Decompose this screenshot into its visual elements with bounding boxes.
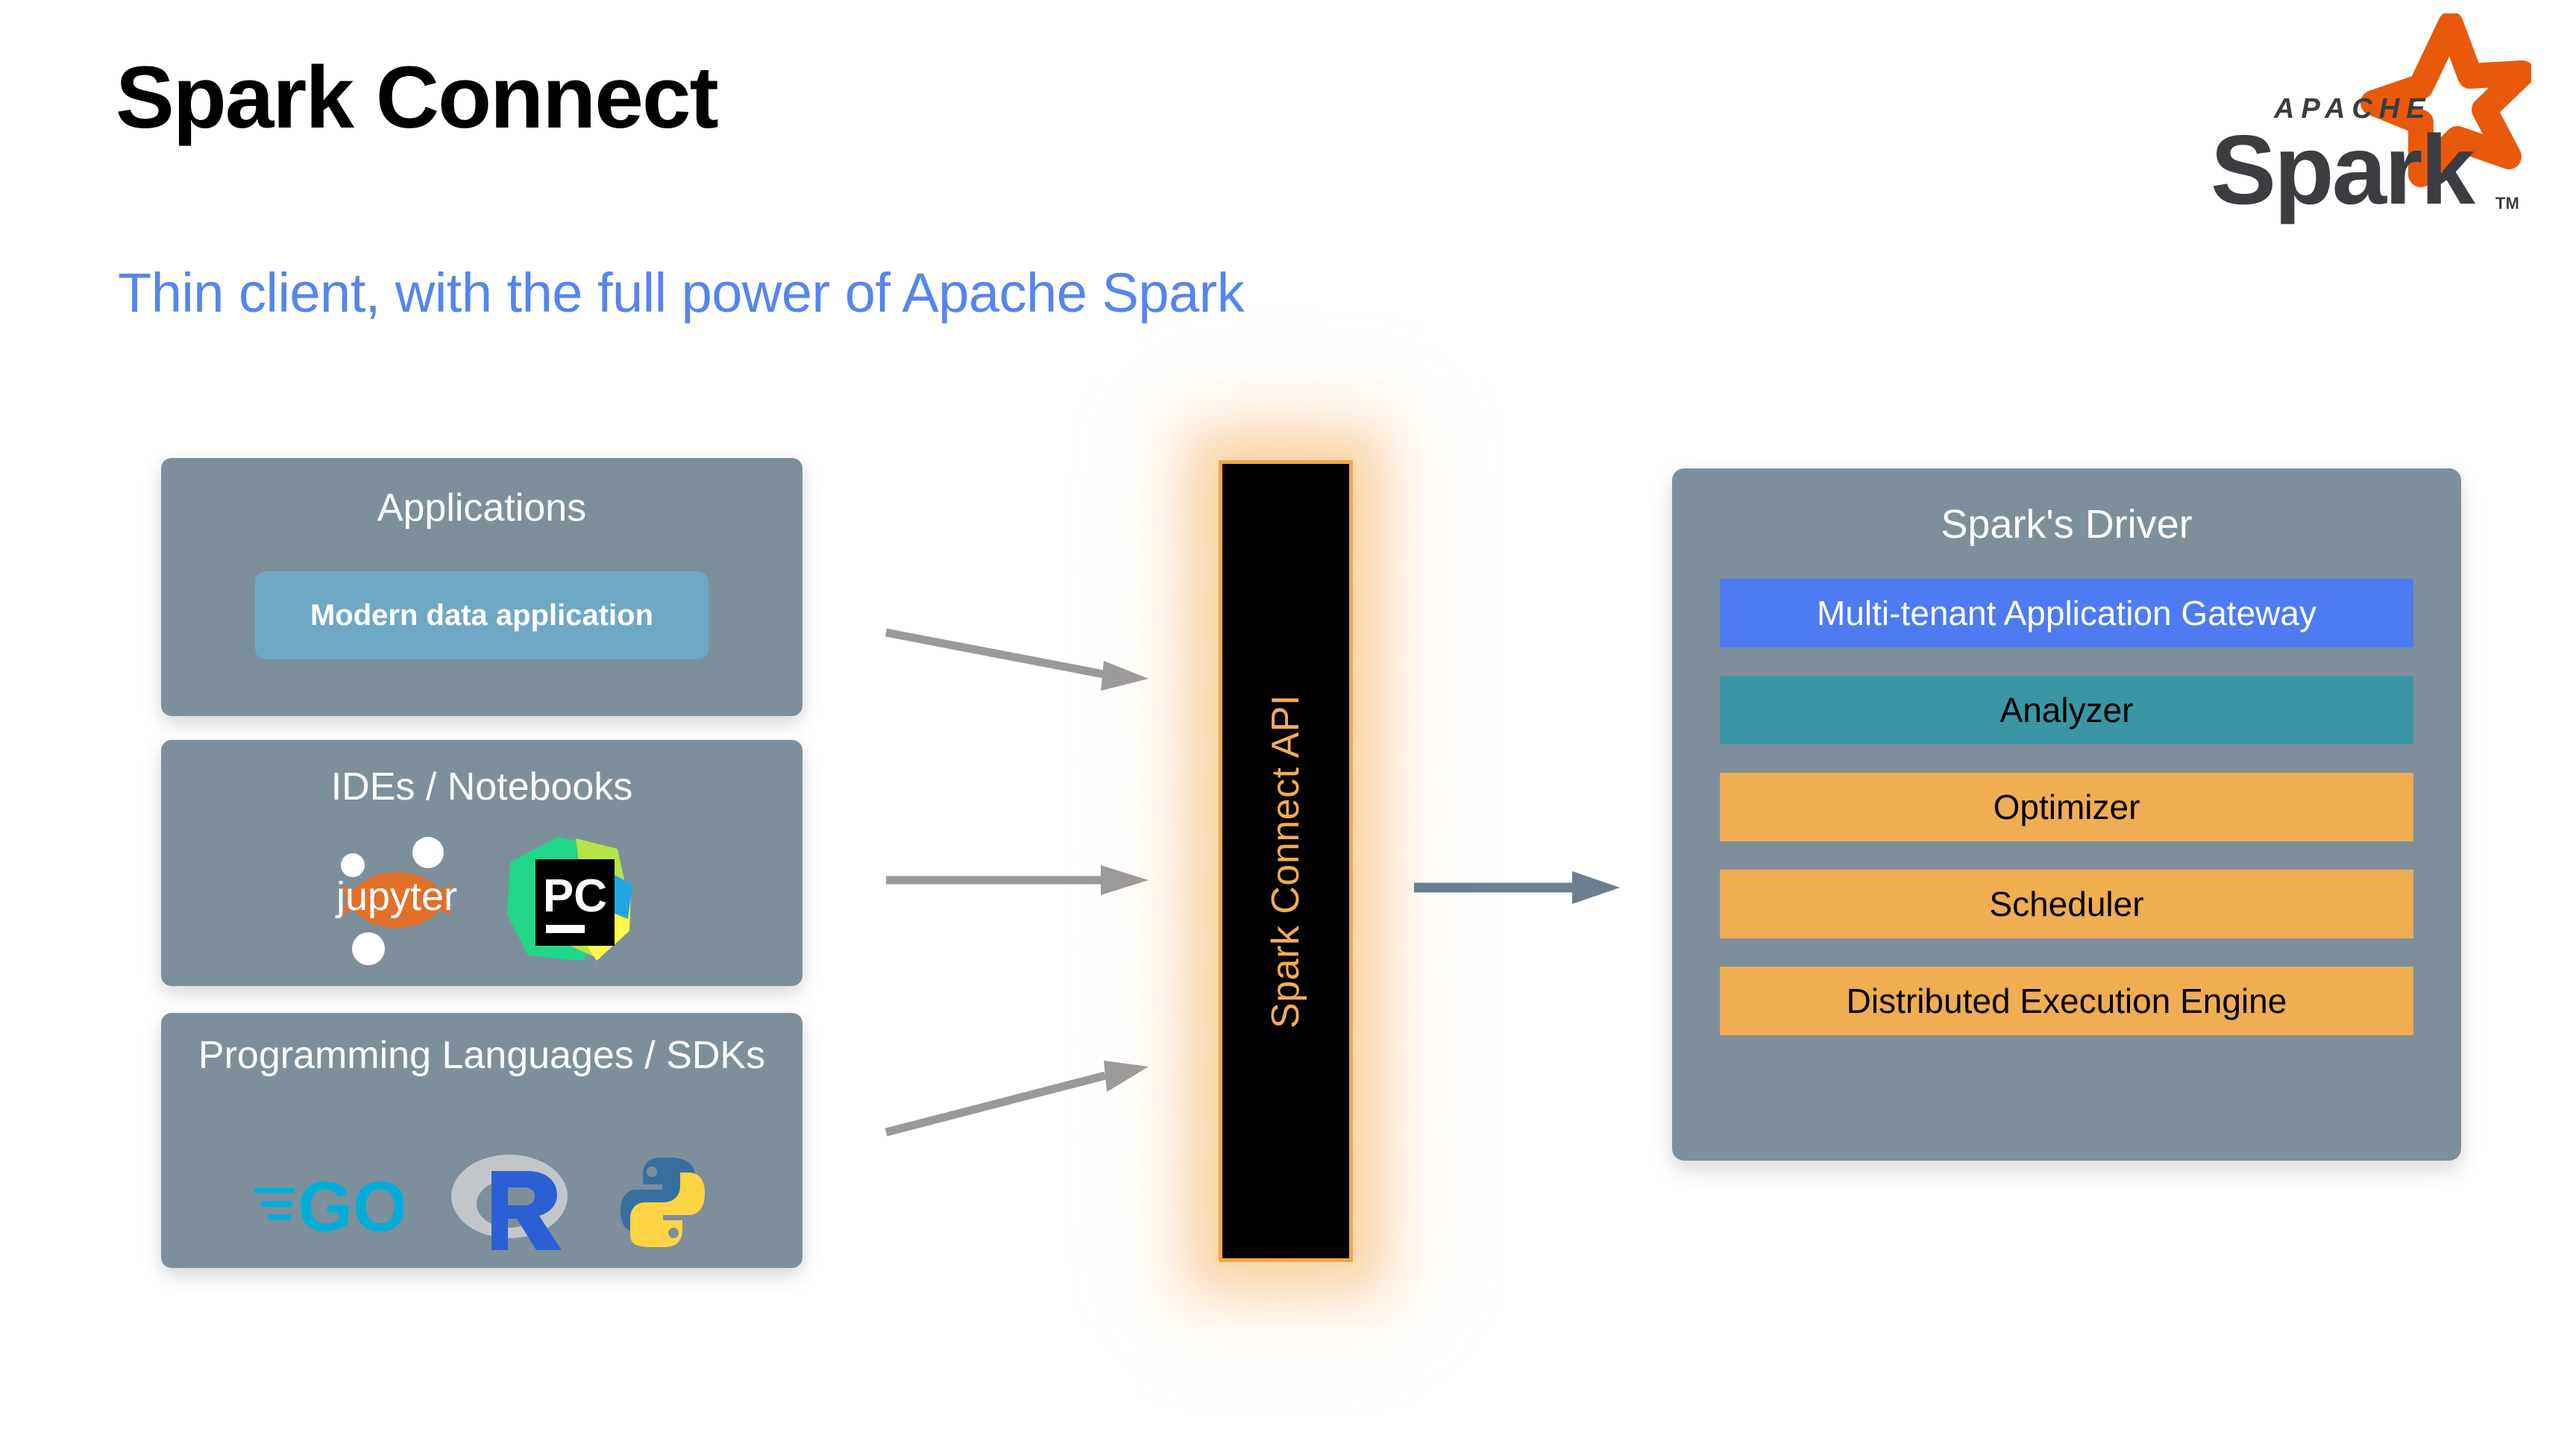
driver-layer-optimizer[interactable]: Optimizer (1720, 773, 2413, 841)
driver-layer-analyzer[interactable]: Analyzer (1720, 676, 2413, 744)
spark-connect-api-bar[interactable]: Spark Connect API (1219, 460, 1353, 1262)
ide-logo-row: jupyter PC (161, 832, 802, 970)
language-logo-row: GO (161, 1144, 802, 1264)
spark-connect-api-label: Spark Connect API (1263, 694, 1308, 1029)
arrow-languages-to-api (880, 1044, 1193, 1149)
modern-data-application-box[interactable]: Modern data application (255, 571, 709, 659)
client-card-ides-notebooks[interactable]: IDEs / Notebooks jupyter (161, 740, 802, 986)
client-card-applications[interactable]: Applications Modern data application (161, 458, 802, 716)
jupyter-logo: jupyter (330, 831, 471, 973)
page-subtitle: Thin client, with the full power of Apac… (118, 261, 1244, 324)
driver-layer-scheduler[interactable]: Scheduler (1720, 870, 2413, 938)
page-title: Spark Connect (116, 52, 717, 145)
slide-canvas: Spark Connect Thin client, with the full… (0, 0, 2576, 1447)
go-logo-text: GO (298, 1167, 403, 1246)
card-title-applications: Applications (161, 486, 802, 530)
driver-layer-list: Multi-tenant Application Gateway Analyze… (1720, 579, 2413, 1035)
python-logo (616, 1155, 709, 1254)
r-logo (448, 1150, 571, 1258)
driver-layer-distributed-execution-engine[interactable]: Distributed Execution Engine (1720, 967, 2413, 1035)
card-title-ides-notebooks: IDEs / Notebooks (161, 765, 802, 809)
client-card-programming-languages[interactable]: Programming Languages / SDKs GO (161, 1013, 802, 1268)
spark-driver-panel[interactable]: Spark's Driver Multi-tenant Application … (1672, 468, 2461, 1161)
pycharm-logo: PC (504, 832, 635, 970)
arrow-ides-to-api (880, 850, 1193, 910)
jupyter-logo-text: jupyter (334, 874, 456, 919)
card-title-programming-languages: Programming Languages / SDKs (161, 1034, 802, 1077)
arrow-applications-to-api (880, 612, 1193, 701)
pycharm-logo-text: PC (542, 870, 606, 922)
logo-spark-text: Spark (2211, 115, 2475, 225)
arrow-api-to-driver (1410, 858, 1641, 917)
go-logo: GO (254, 1158, 403, 1251)
apache-spark-logo: APACHE Spark TM (2158, 13, 2531, 230)
driver-layer-multi-tenant-application-gateway[interactable]: Multi-tenant Application Gateway (1720, 579, 2413, 647)
spark-driver-title: Spark's Driver (1672, 501, 2461, 547)
logo-trademark-text: TM (2495, 194, 2519, 213)
